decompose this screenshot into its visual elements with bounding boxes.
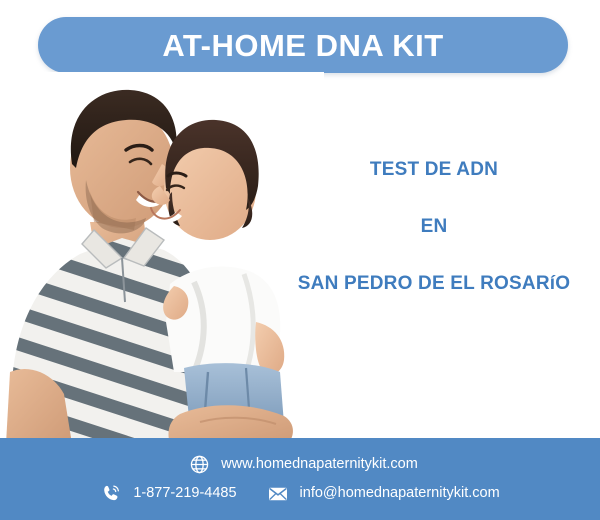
email-contact-item[interactable]: info@homednapaternitykit.com [267,483,500,505]
headline-line-1: TEST DE ADN [268,160,600,179]
email-label: info@homednapaternitykit.com [300,486,500,501]
phone-contact-item[interactable]: 1-877-219-4485 [100,483,236,505]
globe-icon [188,454,210,476]
footer-row-website: www.homednapaternitykit.com [182,454,418,476]
title-banner: AT-HOME DNA KIT [38,17,568,73]
envelope-icon [267,483,289,505]
phone-label: 1-877-219-4485 [133,486,236,501]
footer-row-phone-email: 1-877-219-4485 info@homednapaternitykit.… [100,483,499,505]
poster-root: AT-HOME DNA KIT [0,0,600,520]
headline-line-2: EN [268,217,600,236]
headline-line-3: SAN PEDRO DE EL ROSARíO [268,274,600,293]
website-contact-item[interactable]: www.homednapaternitykit.com [188,454,418,476]
headline-block: TEST DE ADN EN SAN PEDRO DE EL ROSARíO [268,160,600,293]
footer-contact-bar: www.homednapaternitykit.com 1-877-219-44… [0,438,600,520]
website-label: www.homednapaternitykit.com [221,457,418,472]
title-banner-text: AT-HOME DNA KIT [162,30,443,61]
phone-ringing-icon [100,483,122,505]
